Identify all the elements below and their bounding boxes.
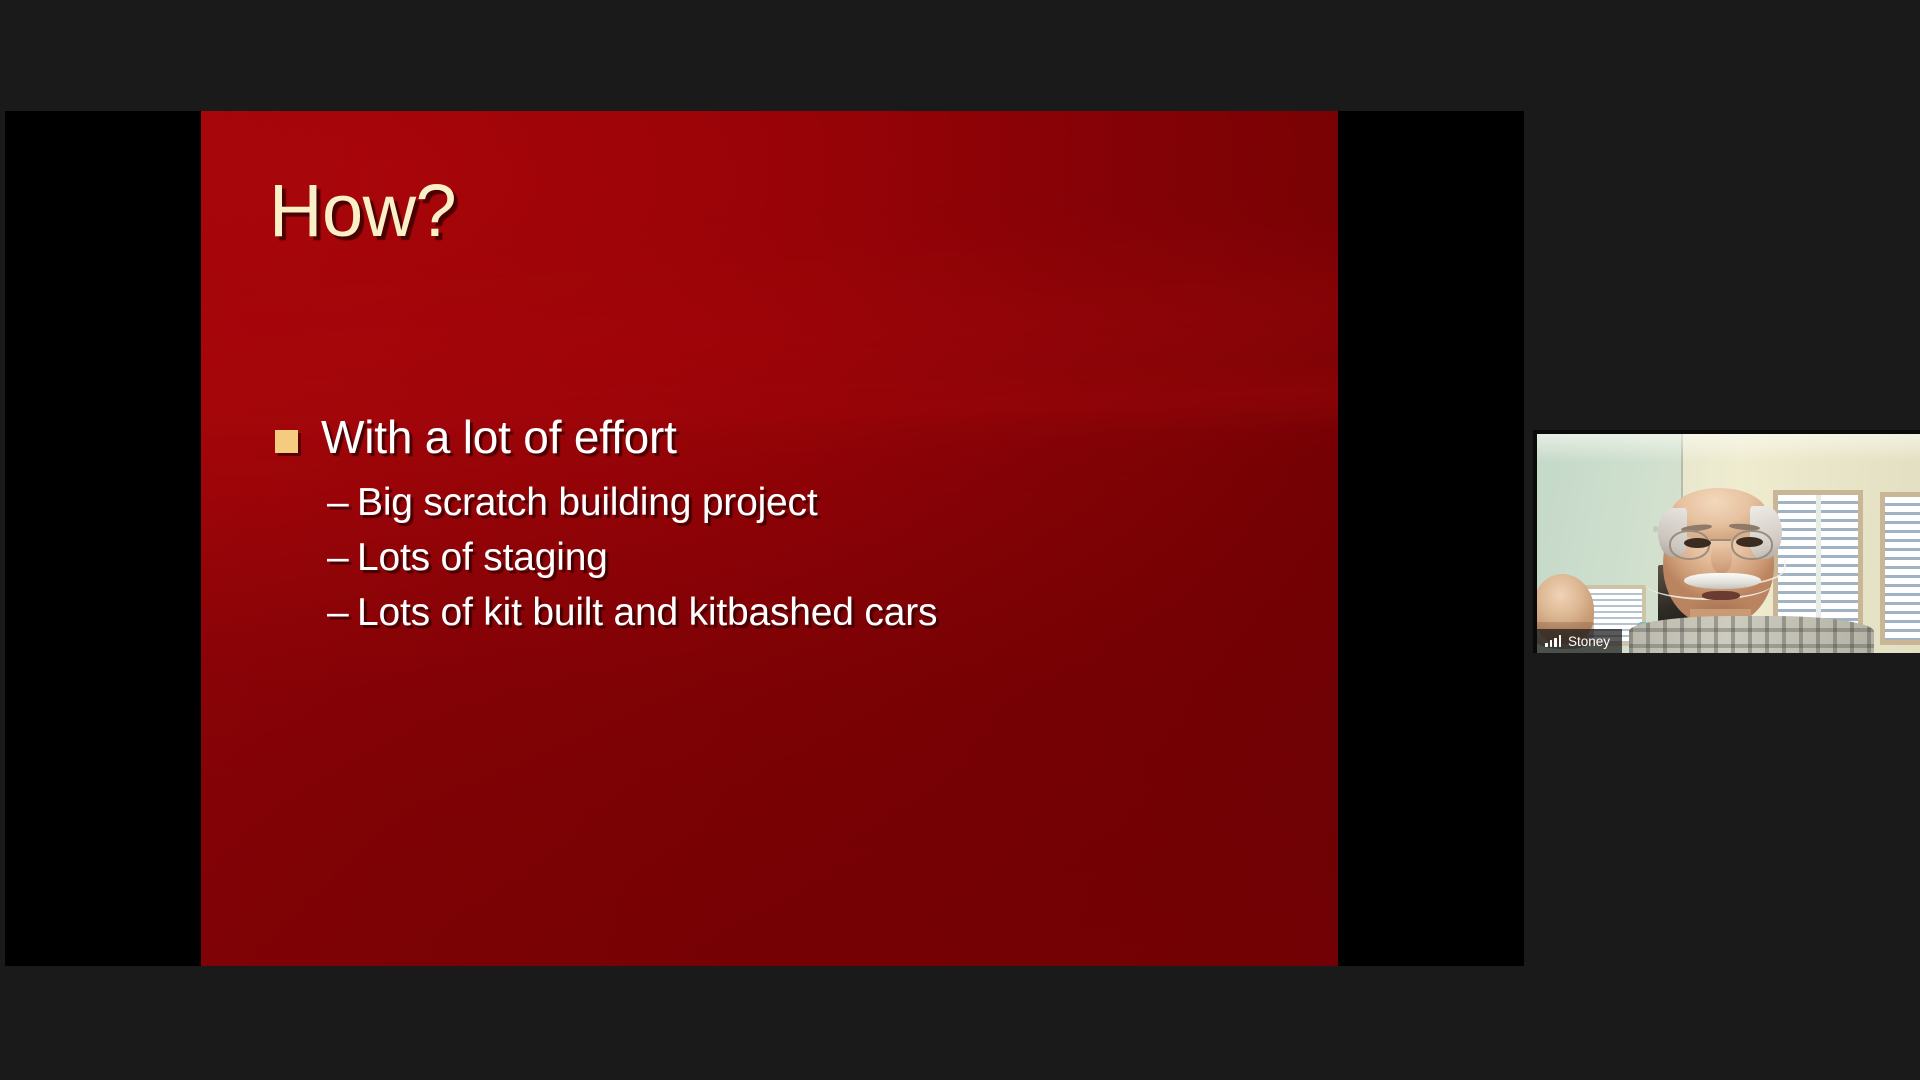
participant-name-badge: Stoney (1537, 629, 1622, 653)
presentation-slide[interactable]: How? With a lot of effort – Big scratch … (201, 111, 1338, 966)
video-feed: Stoney (1537, 434, 1920, 653)
bullet-item-level2: – Big scratch building project (261, 478, 1281, 529)
participant-video-tile[interactable]: Stoney (1533, 430, 1920, 653)
signal-bars-icon (1545, 635, 1561, 647)
dash-bullet-icon: – (327, 533, 357, 584)
mouth (1702, 591, 1740, 601)
participant-name-label: Stoney (1568, 634, 1610, 649)
bullet-item-level2: – Lots of staging (261, 533, 1281, 584)
bullet-text: Lots of kit built and kitbashed cars (357, 588, 937, 639)
bullet-text: Big scratch building project (357, 478, 817, 529)
slide-body-list: With a lot of effort – Big scratch build… (261, 411, 1281, 642)
plaid-shirt (1629, 616, 1874, 653)
bullet-text: With a lot of effort (321, 411, 677, 464)
meeting-window: How? With a lot of effort – Big scratch … (0, 0, 1920, 1080)
shared-screen-stage[interactable]: How? With a lot of effort – Big scratch … (5, 111, 1524, 966)
dash-bullet-icon: – (327, 478, 357, 529)
bullet-item-level2: – Lots of kit built and kitbashed cars (261, 588, 1281, 639)
glasses-bridge (1710, 539, 1731, 542)
bullet-text: Lots of staging (357, 533, 608, 584)
dash-bullet-icon: – (327, 588, 357, 639)
slide-content: How? With a lot of effort – Big scratch … (201, 111, 1338, 966)
bullet-item-level1: With a lot of effort (261, 411, 1281, 464)
square-bullet-icon (275, 430, 298, 453)
eye-right (1736, 537, 1763, 547)
slide-title: How? (269, 174, 456, 248)
participant-person (1537, 434, 1920, 653)
